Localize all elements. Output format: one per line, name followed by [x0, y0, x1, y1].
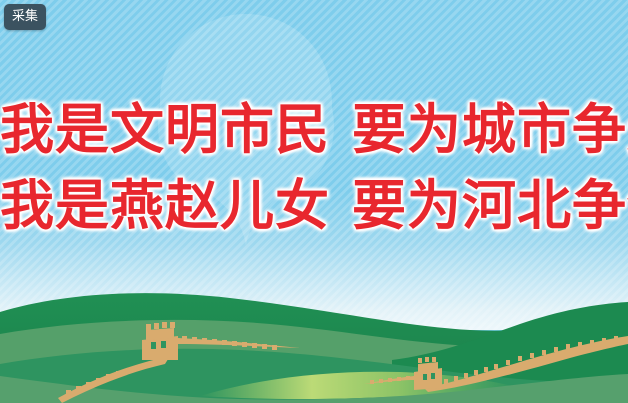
slogan-line-1: 我是文明市民要为城市争光 [0, 92, 628, 168]
slogan-line-1-right: 要为城市争光 [352, 98, 628, 161]
slogan-line-1-left: 我是文明市民 [0, 98, 330, 161]
slogan-line-2-left: 我是燕赵儿女 [0, 174, 330, 237]
slogan-line-2: 我是燕赵儿女要为河北争气 [0, 168, 628, 244]
hills-landscape [0, 268, 628, 403]
capture-button[interactable]: 采集 [4, 4, 46, 30]
banner-image: 我是文明市民要为城市争光 我是燕赵儿女要为河北争气 采集 [0, 0, 628, 403]
slogan-headline: 我是文明市民要为城市争光 我是燕赵儿女要为河北争气 [0, 92, 628, 244]
slogan-line-2-right: 要为河北争气 [352, 174, 628, 237]
